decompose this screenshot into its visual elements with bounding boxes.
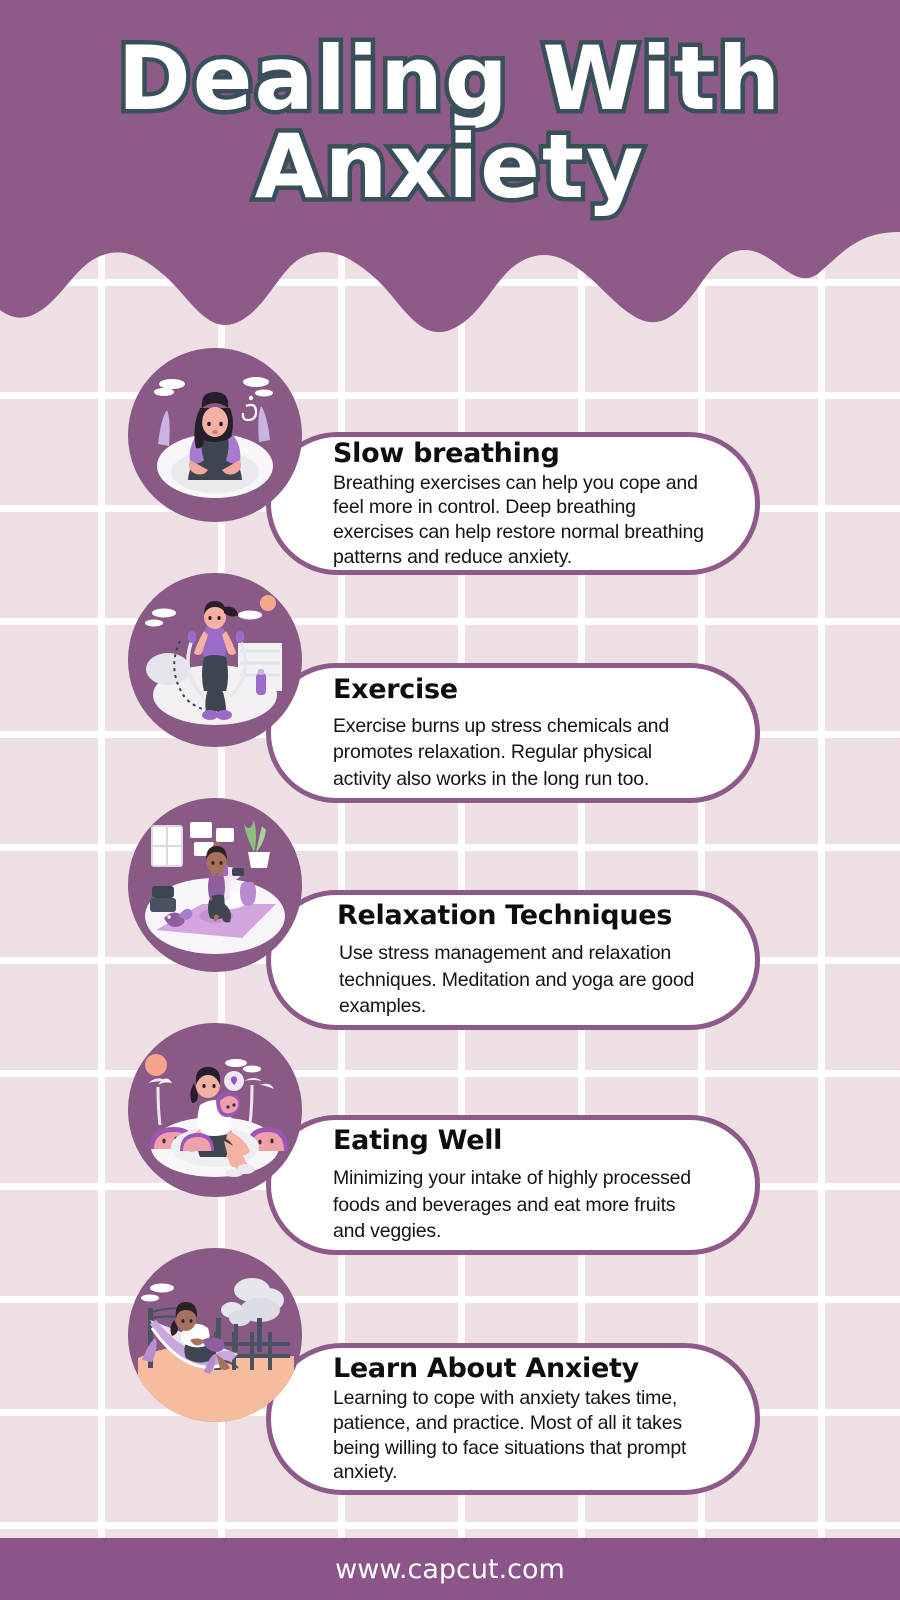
card-exercise[interactable]: Exercise Exercise burns up stress chemic… xyxy=(266,663,760,803)
list-item: Learn About Anxiety Learning to cope wit… xyxy=(0,1248,900,1458)
card-title: Slow breathing xyxy=(333,438,711,469)
card-title: Exercise xyxy=(333,674,711,705)
page-title-line-1: Dealing With xyxy=(118,36,783,122)
meditating-woman-icon xyxy=(128,348,302,522)
card-title: Relaxation Techniques xyxy=(337,900,711,931)
list-item: Exercise Exercise burns up stress chemic… xyxy=(0,573,900,773)
card-eating-well[interactable]: Eating Well Minimizing your intake of hi… xyxy=(266,1115,760,1255)
header-title-block: Dealing With Anxiety xyxy=(0,0,900,240)
card-relaxation-techniques[interactable]: Relaxation Techniques Use stress managem… xyxy=(266,890,760,1030)
list-item: Eating Well Minimizing your intake of hi… xyxy=(0,1023,900,1223)
woman-reading-hammock-icon xyxy=(128,1248,302,1422)
woman-eating-watermelon-icon xyxy=(128,1023,302,1197)
list-item: Slow breathing Breathing exercises can h… xyxy=(0,348,900,548)
footer-website-url[interactable]: www.capcut.com xyxy=(335,1554,565,1585)
card-body: Minimizing your intake of highly process… xyxy=(333,1165,711,1245)
yoga-tree-pose-woman-icon xyxy=(128,798,302,972)
header-banner: Dealing With Anxiety xyxy=(0,0,900,345)
card-title: Learn About Anxiety xyxy=(333,1353,711,1384)
jump-rope-woman-icon xyxy=(128,573,302,747)
page-title-line-2: Anxiety xyxy=(255,124,646,210)
card-body: Learning to cope with anxiety takes time… xyxy=(333,1386,711,1485)
card-body: Breathing exercises can help you cope an… xyxy=(333,471,711,570)
card-learn-about-anxiety[interactable]: Learn About Anxiety Learning to cope wit… xyxy=(266,1343,760,1495)
card-body: Use stress management and relaxation tec… xyxy=(337,940,711,1020)
card-body: Exercise burns up stress chemicals and p… xyxy=(333,713,711,791)
list-item: Relaxation Techniques Use stress managem… xyxy=(0,798,900,998)
card-title: Eating Well xyxy=(333,1125,711,1156)
footer-bar: www.capcut.com xyxy=(0,1538,900,1600)
card-slow-breathing[interactable]: Slow breathing Breathing exercises can h… xyxy=(266,432,760,575)
infographic-page: Dealing With Anxiety xyxy=(0,0,900,1600)
